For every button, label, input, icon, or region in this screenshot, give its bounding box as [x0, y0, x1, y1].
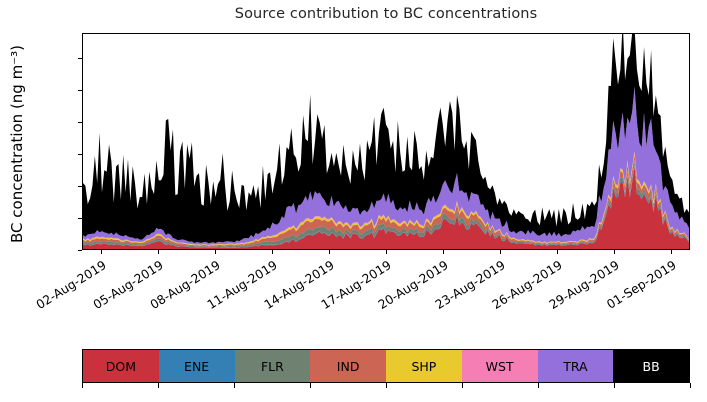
x-tick-mark: [671, 250, 672, 254]
legend-item-ind[interactable]: IND: [310, 350, 386, 382]
legend-tick-mark: [234, 383, 235, 388]
legend-item-label: SHP: [411, 359, 436, 374]
x-tick-mark: [443, 250, 444, 254]
legend-item-wst[interactable]: WST: [462, 350, 538, 382]
legend[interactable]: DOMENEFLRINDSHPWSTTRABB: [82, 349, 690, 383]
plot-area: [82, 33, 690, 250]
x-tick-mark: [101, 250, 102, 254]
legend-item-label: BB: [643, 359, 660, 374]
legend-item-bb[interactable]: BB: [613, 350, 689, 382]
legend-tick-mark: [310, 383, 311, 388]
x-tick-mark: [614, 250, 615, 254]
stacked-area-plot: [83, 34, 689, 249]
legend-tick-mark: [614, 383, 615, 388]
y-axis-label: BC concentration (ng m⁻³): [8, 9, 26, 279]
legend-item-tra[interactable]: TRA: [538, 350, 614, 382]
page-title: Source contribution to BC concentrations: [82, 6, 690, 22]
legend-item-ene[interactable]: ENE: [159, 350, 235, 382]
legend-item-shp[interactable]: SHP: [386, 350, 462, 382]
legend-tick-mark: [158, 383, 159, 388]
legend-item-label: FLR: [261, 359, 284, 374]
x-tick-mark: [329, 250, 330, 254]
legend-tick-mark: [690, 383, 691, 388]
x-tick-mark: [215, 250, 216, 254]
x-tick-mark: [557, 250, 558, 254]
legend-tick-mark: [538, 383, 539, 388]
x-tick-mark: [500, 250, 501, 254]
legend-item-flr[interactable]: FLR: [235, 350, 311, 382]
x-tick-mark: [158, 250, 159, 254]
legend-item-label: ENE: [184, 359, 209, 374]
legend-item-label: WST: [486, 359, 514, 374]
legend-tick-mark: [386, 383, 387, 388]
chart-figure: Source contribution to BC concentrations…: [0, 0, 707, 402]
legend-item-label: IND: [337, 359, 360, 374]
x-tick-mark: [386, 250, 387, 254]
legend-tick-mark: [82, 383, 83, 388]
legend-tick-mark: [462, 383, 463, 388]
legend-item-dom[interactable]: DOM: [83, 350, 159, 382]
legend-item-label: DOM: [106, 359, 136, 374]
x-tick-mark: [272, 250, 273, 254]
legend-item-label: TRA: [563, 359, 587, 374]
